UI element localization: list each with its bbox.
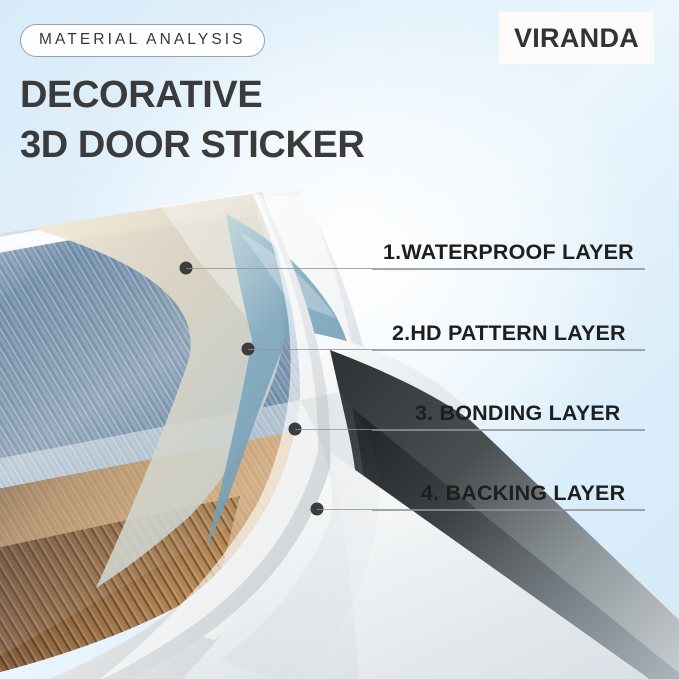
eyebrow-label: MATERIAL ANALYSIS bbox=[39, 31, 246, 48]
poster-root: MATERIAL ANALYSIS DECORATIVE 3D DOOR STI… bbox=[0, 0, 679, 679]
callout-underline-hd-pattern bbox=[372, 350, 645, 351]
callout-underline-bonding bbox=[372, 430, 645, 431]
callout-underline-backing bbox=[372, 510, 645, 511]
callout-label-backing: 4. BACKING LAYER bbox=[421, 481, 625, 506]
eyebrow-badge: MATERIAL ANALYSIS bbox=[20, 24, 265, 57]
page-title: DECORATIVE 3D DOOR STICKER bbox=[20, 70, 364, 170]
brand-logo: VIRANDA bbox=[499, 12, 654, 64]
page-title-line2: 3D DOOR STICKER bbox=[20, 120, 364, 170]
callout-label-hd-pattern: 2.HD PATTERN LAYER bbox=[392, 321, 626, 346]
callout-label-bonding: 3. BONDING LAYER bbox=[415, 401, 621, 426]
callout-label-waterproof: 1.WATERPROOF LAYER bbox=[383, 240, 634, 265]
callout-underline-waterproof bbox=[372, 269, 645, 270]
page-title-line1: DECORATIVE bbox=[20, 74, 262, 116]
brand-logo-text: VIRANDA bbox=[514, 23, 639, 54]
